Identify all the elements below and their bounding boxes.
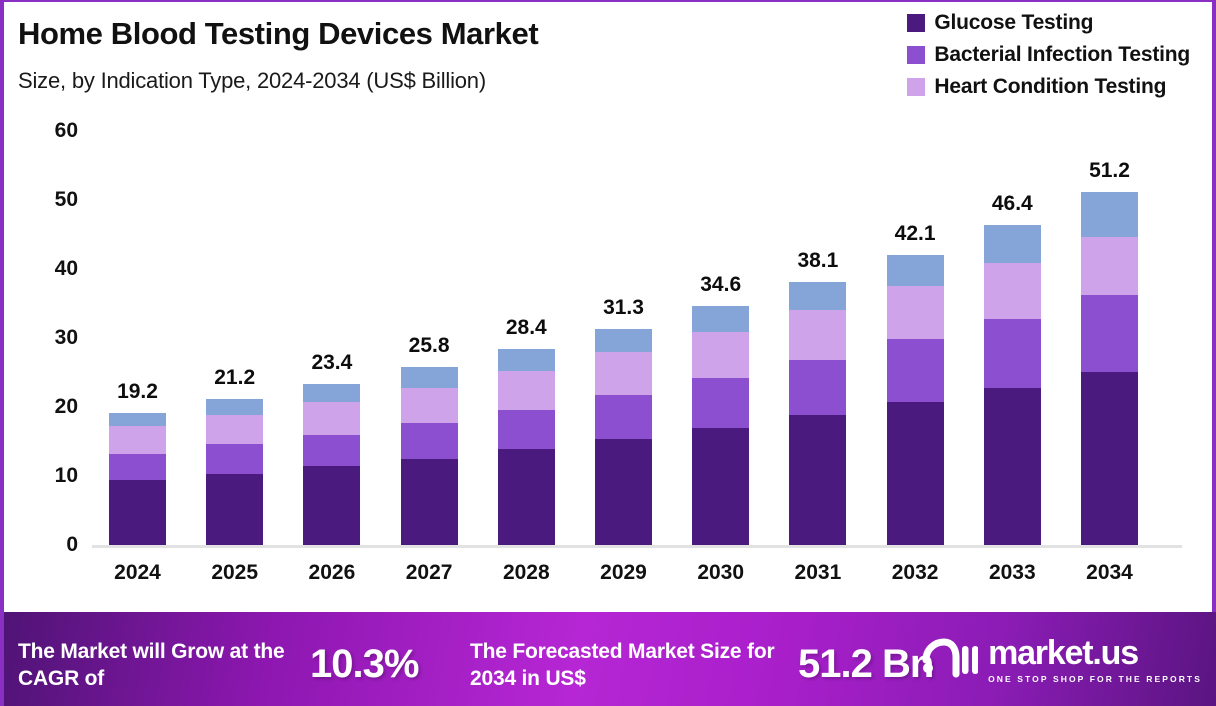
bar-segment[interactable]	[789, 282, 846, 310]
legend-item-label: Bacterial Infection Testing	[934, 43, 1190, 67]
bar-segment[interactable]	[401, 459, 458, 545]
page-title: Home Blood Testing Devices Market	[18, 16, 538, 52]
bar-segment[interactable]	[303, 466, 360, 545]
bar-group[interactable]: 23.42026	[303, 131, 360, 545]
x-axis-tick-label: 2024	[114, 561, 161, 585]
bar-segment[interactable]	[303, 384, 360, 402]
bar-value-label: 28.4	[506, 316, 547, 340]
legend-item-label: Heart Condition Testing	[934, 75, 1166, 99]
footer-cagr-label: The Market will Grow at the CAGR of	[18, 639, 293, 693]
bar-segment[interactable]	[984, 388, 1041, 545]
x-axis-baseline	[92, 545, 1182, 548]
bar-segment[interactable]	[401, 367, 458, 388]
bar-segment[interactable]	[303, 402, 360, 435]
bar-value-label: 38.1	[797, 249, 838, 273]
stacked-bar[interactable]	[887, 255, 944, 545]
legend-item: Glucose Testing	[907, 8, 1093, 37]
stacked-bar[interactable]	[595, 329, 652, 545]
legend-swatch-icon	[907, 46, 925, 64]
bar-segment[interactable]	[595, 395, 652, 439]
y-axis-tick-label: 50	[16, 188, 78, 212]
bar-group[interactable]: 28.42028	[498, 131, 555, 545]
bar-segment[interactable]	[692, 428, 749, 545]
bar-segment[interactable]	[1081, 295, 1138, 372]
bar-value-label: 34.6	[700, 273, 741, 297]
y-axis-tick-label: 60	[16, 119, 78, 143]
bar-segment[interactable]	[984, 225, 1041, 263]
bar-segment[interactable]	[887, 339, 944, 402]
bar-segment[interactable]	[206, 474, 263, 545]
footer-banner: The Market will Grow at the CAGR of 10.3…	[4, 612, 1216, 706]
bar-group[interactable]: 38.12031	[789, 131, 846, 545]
x-axis-tick-label: 2032	[892, 561, 939, 585]
chart-header: Home Blood Testing Devices Market Size, …	[4, 2, 1216, 114]
bar-segment[interactable]	[692, 332, 749, 378]
bar-segment[interactable]	[1081, 372, 1138, 545]
legend-item: Bacterial Infection Testing	[907, 40, 1190, 69]
infographic-page: Home Blood Testing Devices Market Size, …	[0, 0, 1216, 706]
bar-segment[interactable]	[401, 423, 458, 459]
chart-legend: Glucose TestingBacterial Infection Testi…	[907, 8, 1190, 101]
x-axis-tick-label: 2034	[1086, 561, 1133, 585]
logo-name: market.us	[988, 636, 1138, 670]
footer-cagr-value: 10.3%	[310, 642, 418, 687]
bar-value-label: 25.8	[409, 334, 450, 358]
x-axis-tick-label: 2030	[697, 561, 744, 585]
footer-forecast-value: 51.2 Bn	[798, 642, 933, 687]
bar-segment[interactable]	[303, 435, 360, 467]
legend-item: Heart Condition Testing	[907, 72, 1166, 101]
y-axis-tick-label: 40	[16, 257, 78, 281]
legend-swatch-icon	[907, 78, 925, 96]
stacked-bar[interactable]	[498, 349, 555, 545]
bar-value-label: 31.3	[603, 296, 644, 320]
bar-segment[interactable]	[1081, 192, 1138, 237]
bar-segment[interactable]	[206, 415, 263, 445]
bar-segment[interactable]	[1081, 237, 1138, 295]
bar-segment[interactable]	[692, 306, 749, 332]
bar-segment[interactable]	[595, 329, 652, 352]
bar-segment[interactable]	[789, 415, 846, 545]
bar-segment[interactable]	[595, 439, 652, 545]
bar-group[interactable]: 42.12032	[887, 131, 944, 545]
bar-segment[interactable]	[206, 399, 263, 415]
y-axis-tick-label: 30	[16, 326, 78, 350]
stacked-bar[interactable]	[206, 399, 263, 545]
bar-value-label: 46.4	[992, 192, 1033, 216]
x-axis-tick-label: 2031	[795, 561, 842, 585]
bar-value-label: 21.2	[214, 366, 255, 390]
stacked-bar[interactable]	[109, 413, 166, 545]
bar-segment[interactable]	[984, 263, 1041, 319]
stacked-bar[interactable]	[303, 384, 360, 545]
y-axis-tick-label: 10	[16, 464, 78, 488]
stacked-bar[interactable]	[1081, 192, 1138, 545]
bar-group[interactable]: 31.32029	[595, 131, 652, 545]
bar-segment[interactable]	[109, 454, 166, 480]
x-axis-tick-label: 2028	[503, 561, 550, 585]
bar-segment[interactable]	[498, 410, 555, 449]
x-axis-tick-label: 2026	[309, 561, 356, 585]
bar-group[interactable]: 19.22024	[109, 131, 166, 545]
bar-segment[interactable]	[109, 426, 166, 454]
bar-segment[interactable]	[401, 388, 458, 423]
bar-value-label: 23.4	[311, 351, 352, 375]
x-axis-tick-label: 2029	[600, 561, 647, 585]
bar-segment[interactable]	[206, 444, 263, 474]
bar-group[interactable]: 51.22034	[1081, 131, 1138, 545]
bar-segment[interactable]	[692, 378, 749, 428]
x-axis-tick-label: 2025	[211, 561, 258, 585]
market-us-mark-icon	[922, 638, 978, 683]
bar-segment[interactable]	[887, 255, 944, 287]
x-axis-tick-label: 2027	[406, 561, 453, 585]
bar-segment[interactable]	[109, 480, 166, 545]
bar-value-label: 19.2	[117, 380, 158, 404]
bar-group[interactable]: 34.62030	[692, 131, 749, 545]
footer-forecast-label: The Forecasted Market Size for 2034 in U…	[470, 639, 780, 693]
bar-group[interactable]: 25.82027	[401, 131, 458, 545]
bar-segment[interactable]	[887, 286, 944, 339]
brand-logo[interactable]: market.us ONE STOP SHOP FOR THE REPORTS	[922, 636, 1202, 684]
bar-segment[interactable]	[498, 371, 555, 410]
bar-segment[interactable]	[887, 402, 944, 545]
bar-segment[interactable]	[789, 360, 846, 415]
bar-value-label: 51.2	[1089, 159, 1130, 183]
chart-plot-area: 0102030405060 19.2202421.2202523.4202625…	[4, 114, 1216, 614]
stacked-bar[interactable]	[789, 282, 846, 545]
x-axis-tick-label: 2033	[989, 561, 1036, 585]
bar-segment[interactable]	[789, 310, 846, 360]
bar-segment[interactable]	[498, 349, 555, 371]
legend-item-label: Glucose Testing	[934, 11, 1093, 35]
bar-value-label: 42.1	[895, 222, 936, 246]
bar-group[interactable]: 46.42033	[984, 131, 1041, 545]
y-axis-tick-label: 20	[16, 395, 78, 419]
bar-segment[interactable]	[109, 413, 166, 427]
logo-tagline: ONE STOP SHOP FOR THE REPORTS	[988, 674, 1202, 684]
bar-segment[interactable]	[595, 352, 652, 395]
stacked-bar[interactable]	[692, 306, 749, 545]
bar-segment[interactable]	[498, 449, 555, 545]
stacked-bar[interactable]	[984, 225, 1041, 545]
page-subtitle: Size, by Indication Type, 2024-2034 (US$…	[18, 68, 486, 94]
legend-swatch-icon	[907, 14, 925, 32]
bar-segment[interactable]	[984, 319, 1041, 389]
stacked-bar[interactable]	[401, 367, 458, 545]
logo-wordmark: market.us ONE STOP SHOP FOR THE REPORTS	[988, 636, 1202, 684]
bar-group[interactable]: 21.22025	[206, 131, 263, 545]
y-axis-tick-label: 0	[16, 533, 78, 557]
